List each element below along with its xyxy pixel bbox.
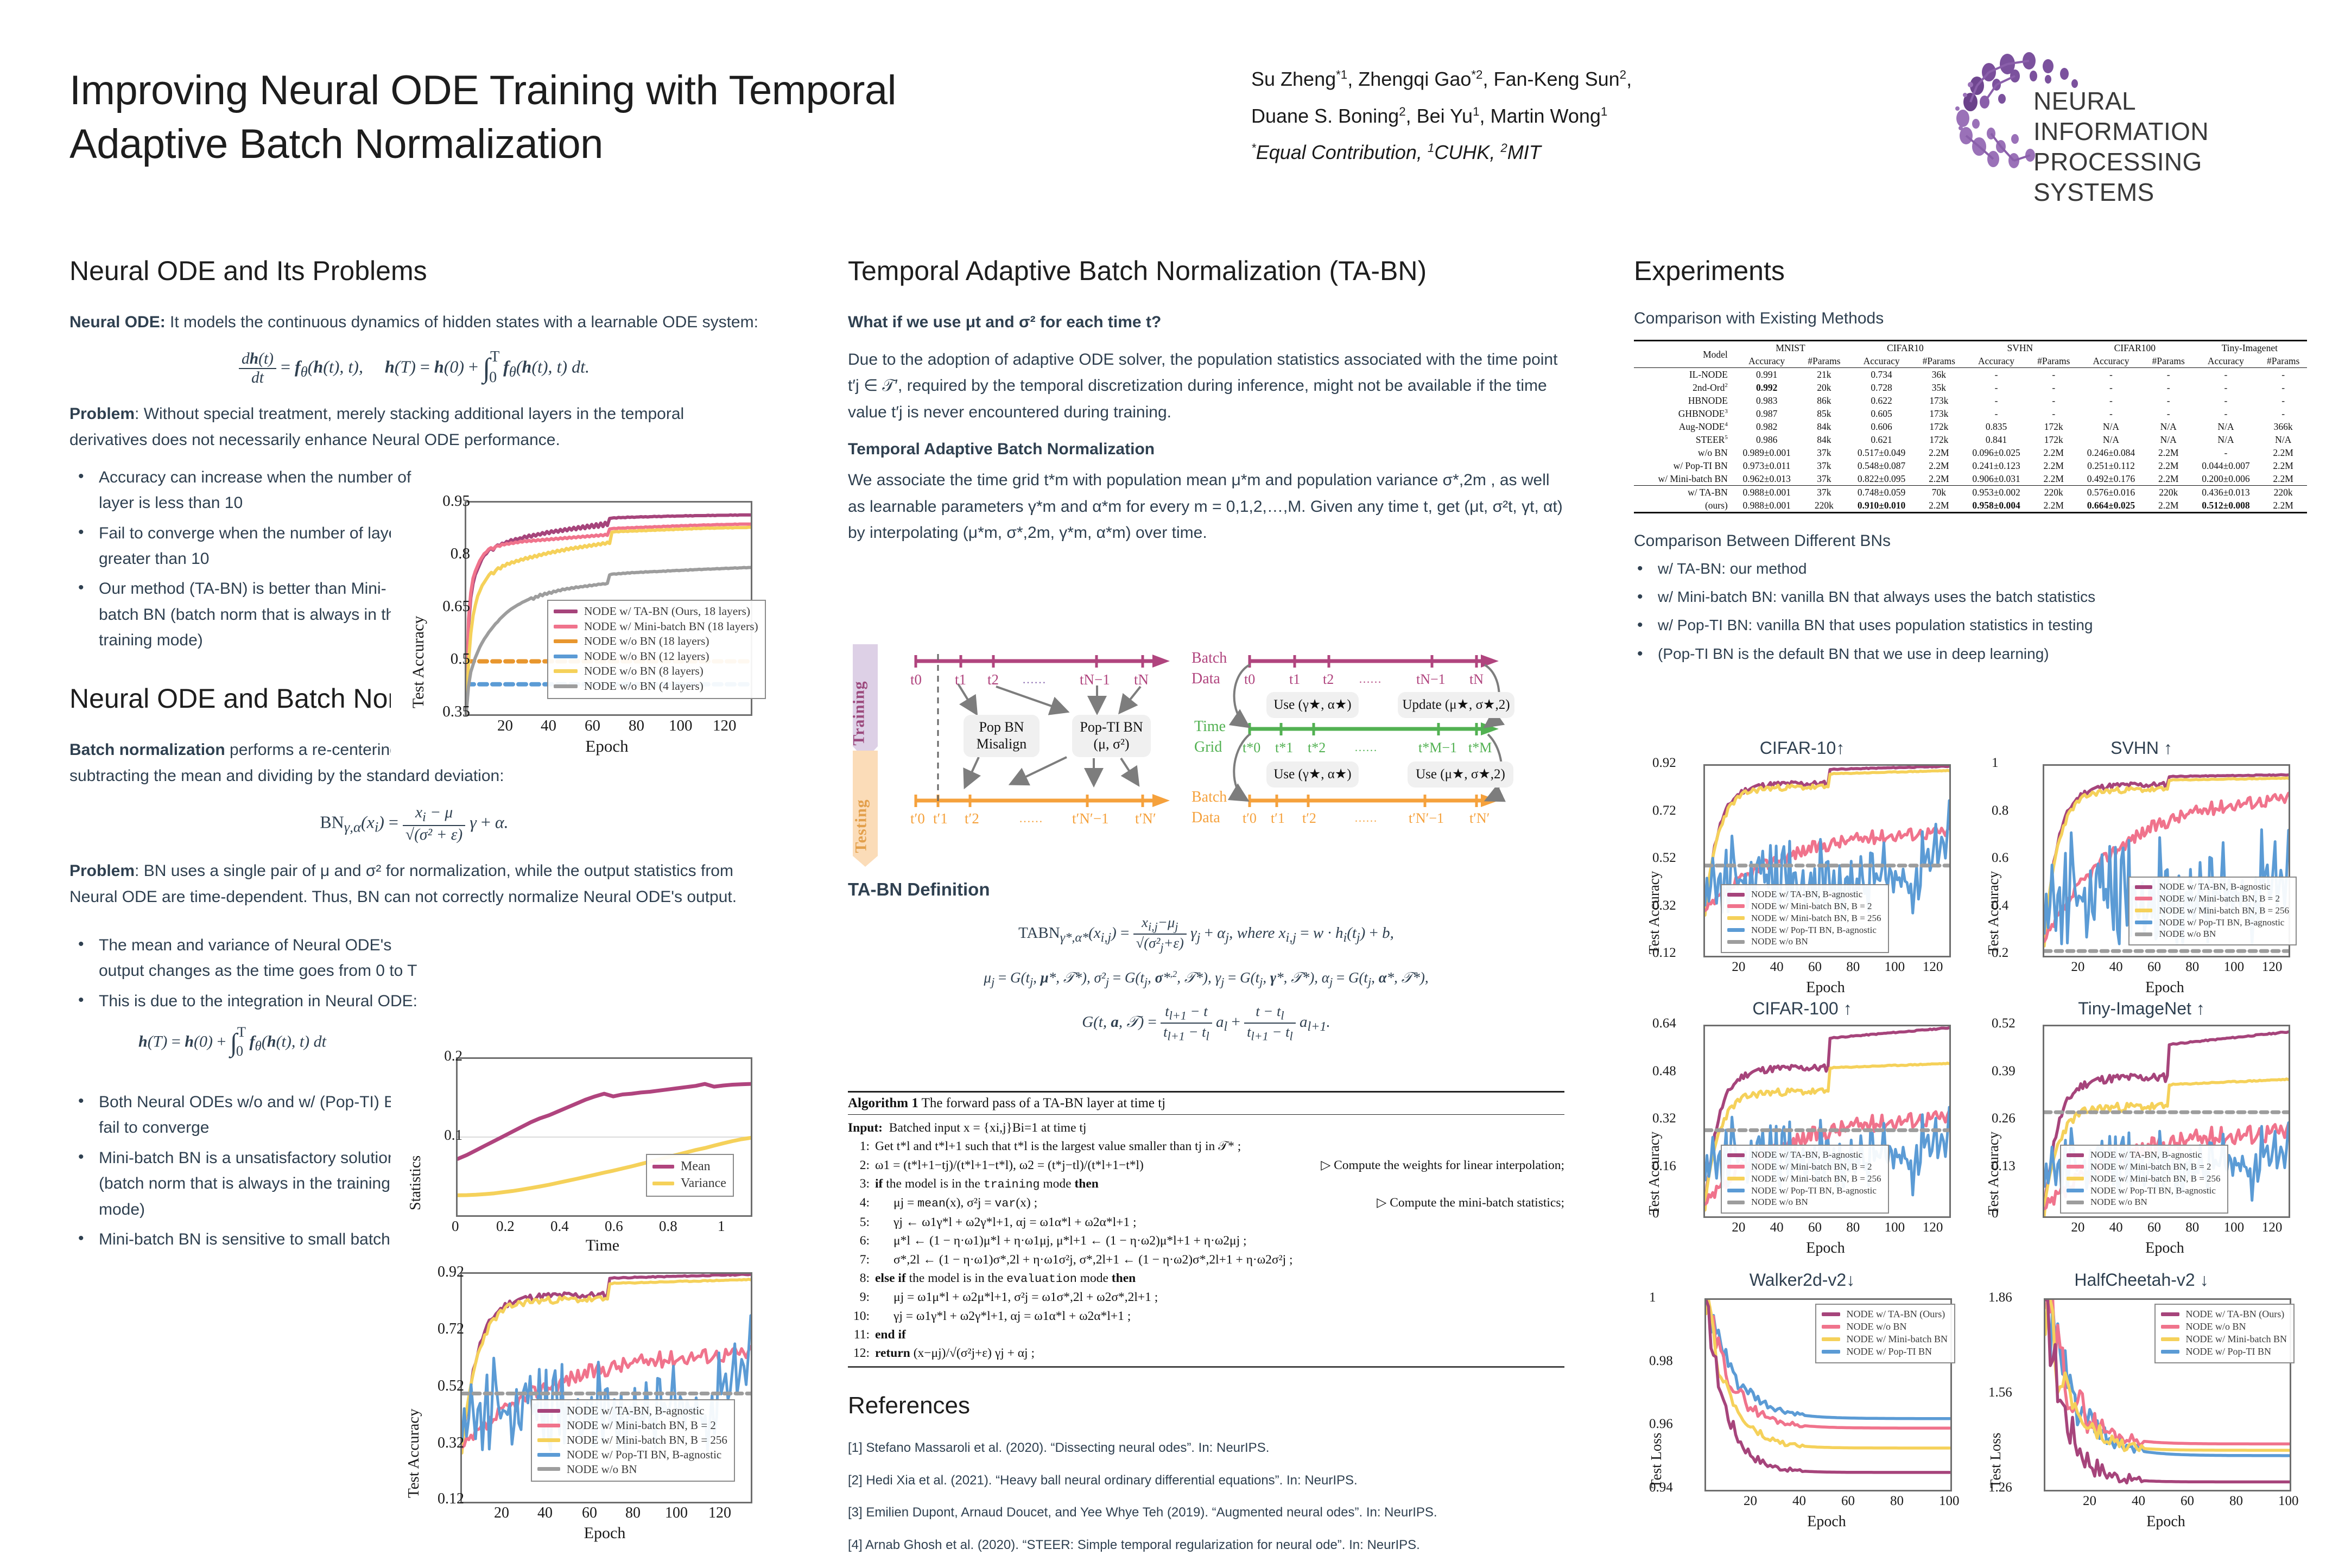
legend-item: Mean <box>652 1158 726 1175</box>
legend-label: NODE w/ Mini-batch BN, B = 256 <box>2159 905 2289 917</box>
legend-item: NODE w/ TA-BN (Ours, 18 layers) <box>554 604 758 619</box>
xtick: 20 <box>2083 1494 2096 1509</box>
algorithm-line: 10:γj = ω1γ*l + ω2γ*l+1, αj = ω1α*l + ω2… <box>848 1307 1564 1325</box>
table-cell-model: w/ Pop-TI BN <box>1634 459 1733 472</box>
section-neural-ode-problems: Neural ODE and Its Problems <box>69 255 759 287</box>
ytick: 0.65 <box>442 598 470 615</box>
table-cell: 172k <box>2030 433 2077 446</box>
table-cell: 20k <box>1801 381 1848 394</box>
table-cell: 2.2M <box>1915 472 1963 486</box>
legend-swatch <box>2161 1337 2179 1341</box>
table-cell: 172k <box>2030 420 2077 433</box>
list-item: Mini-batch BN is sensitive to small batc… <box>99 1227 424 1252</box>
ytick: 0.4 <box>1992 898 2008 913</box>
diagram-tick-label: t2 <box>1323 671 1334 688</box>
ytick: 1 <box>1992 756 1999 771</box>
ytick: 0.35 <box>442 703 470 721</box>
table-cell: 172k <box>1915 433 1963 446</box>
legend-label: NODE w/ Mini-batch BN, B = 2 <box>2090 1161 2211 1173</box>
algorithm-line: 9:μj = ω1μ*l + ω2μ*l+1, σ²j = ω1σ*,2l + … <box>848 1288 1564 1306</box>
diagram-tick-label: tN <box>1469 671 1484 688</box>
table-cell-model: IL-NODE <box>1634 368 1733 382</box>
legend-item: NODE w/ Pop-TI BN <box>2161 1345 2287 1358</box>
ytick: 0.92 <box>438 1264 464 1281</box>
diagram-tick-label: …… <box>1022 672 1046 687</box>
legend-label: NODE w/o BN <box>2090 1196 2147 1208</box>
legend-label: NODE w/ Mini-batch BN, B = 256 <box>1751 1173 1881 1185</box>
xtick: 20 <box>497 717 513 735</box>
tabn-diagram: Training Testing <box>850 643 1563 868</box>
table-cell: N/A <box>2192 433 2260 446</box>
legend-swatch <box>2067 1153 2084 1157</box>
xtick: 120 <box>1923 960 1943 975</box>
xtick: 100 <box>1885 960 1905 975</box>
legend-item: NODE w/ Mini-batch BN, B = 256 <box>2135 905 2289 917</box>
table-cell: 0.973±0.011 <box>1733 459 1801 472</box>
section-tabn: Temporal Adaptive Batch Normalization (T… <box>848 255 1564 287</box>
table-cell: 0.986 <box>1733 433 1801 446</box>
legend-item: NODE w/ Pop-TI BN, B-agnostic <box>537 1448 727 1462</box>
diagram-tick-label: t′N′ <box>1135 810 1156 827</box>
chart-cifar100-legend: NODE w/ TA-BN, B-agnosticNODE w/ Mini-ba… <box>1721 1145 1889 1214</box>
table-subheader: #Params <box>2259 354 2307 368</box>
ytick: 0.5 <box>451 650 470 668</box>
diagram-tick-label: t0 <box>910 671 922 688</box>
ytick: 0.8 <box>451 545 470 563</box>
table-subheader: #Params <box>2030 354 2077 368</box>
table-cell: 0.621 <box>1848 433 1915 446</box>
legend-swatch <box>1727 1177 1745 1180</box>
ytick: 0.96 <box>1649 1417 1673 1432</box>
table-cell: 2.2M <box>2259 446 2307 459</box>
ytick: 0.52 <box>438 1377 464 1395</box>
compare-title: Comparison Between Different BNs <box>1634 532 2312 550</box>
table-cell: 0.436±0.013 <box>2192 486 2260 499</box>
legend-label: NODE w/ Pop-TI BN, B-agnostic <box>2159 917 2284 929</box>
diagram-row-label: Time <box>1194 718 1226 735</box>
table-cell: 2.2M <box>2259 459 2307 472</box>
legend-item: NODE w/o BN <box>2135 928 2289 940</box>
table-cell: 37k <box>1801 446 1848 459</box>
legend-item: NODE w/o BN <box>2161 1321 2287 1333</box>
table-cell: 220k <box>2259 486 2307 499</box>
legend-swatch <box>1727 1201 1745 1204</box>
xtick: 0.4 <box>550 1218 569 1235</box>
diagram-tick-label: …… <box>1354 811 1377 825</box>
diagram-tick-label: t*M <box>1468 740 1492 756</box>
reference-item: [2] Hedi Xia et al. (2021). “Heavy ball … <box>848 1471 1564 1490</box>
xtick: 0.2 <box>496 1218 515 1235</box>
diagram-tick-label: t2 <box>987 671 999 688</box>
xtick: 20 <box>2071 1220 2084 1235</box>
table-cell: 2.2M <box>2030 446 2077 459</box>
table-cell: - <box>2077 407 2145 420</box>
table-cell-model: Aug-NODE4 <box>1634 420 1733 433</box>
table-cell: 2.2M <box>2145 472 2192 486</box>
xtick: 40 <box>1792 1494 1806 1509</box>
algorithm-line: 12:return (x−μj)/√(σ²j+ε) γj + αj ; <box>848 1344 1564 1362</box>
table-cell: 0.734 <box>1848 368 1915 382</box>
ytick: 0.95 <box>442 492 470 510</box>
legend-item: NODE w/ TA-BN, B-agnostic <box>2067 1149 2221 1161</box>
table-subheader-row: Accuracy#ParamsAccuracy#ParamsAccuracy#P… <box>1634 354 2307 368</box>
legend-swatch <box>554 610 578 613</box>
tabn-definition-title: TA-BN Definition <box>848 879 1564 900</box>
box-line-1: Pop BN <box>979 719 1024 736</box>
table-cell: 366k <box>2259 420 2307 433</box>
table-cell: 35k <box>1915 381 1963 394</box>
diagram-box-use-gamma-alpha-train: Use (γ★, α★) <box>1266 692 1359 718</box>
chart-statistics-legend: Mean Variance <box>646 1154 734 1197</box>
equation-integral: h(T) = h(0) + ∫T0 fθ(h(t), t) dt <box>69 1028 395 1058</box>
list-item: w/ Mini-batch BN: vanilla BN that always… <box>1658 585 2312 609</box>
logo-line-1: NEURAL INFORMATION <box>2033 86 2312 147</box>
ytick: 1.26 <box>1988 1480 2012 1495</box>
table-header-dataset: MNIST <box>1733 341 1848 355</box>
diagram-tick-label: t′1 <box>1271 810 1285 827</box>
reference-item: [1] Stefano Massaroli et al. (2020). “Di… <box>848 1439 1564 1457</box>
chart-batchsize-ylabel: Test Accuracy <box>405 1408 423 1498</box>
list-item: w/ TA-BN: our method <box>1658 557 2312 581</box>
legend-label: NODE w/ Mini-batch BN, B = 256 <box>2090 1173 2221 1185</box>
ytick: 0.32 <box>1652 1111 1676 1126</box>
authors-line-1: Su Zheng*1, Zhengqi Gao*2, Fan-Keng Sun2… <box>1251 61 1772 98</box>
legend-swatch <box>1727 1189 1745 1192</box>
legend-item: NODE w/o BN <box>2067 1196 2221 1208</box>
table-cell: 0.988±0.001 <box>1733 486 1801 499</box>
ytick: 0.12 <box>1652 945 1676 961</box>
legend-swatch <box>1727 1165 1745 1169</box>
xtick: 80 <box>1846 960 1860 975</box>
table-row: 2nd-Ord20.99220k0.72835k------ <box>1634 381 2307 394</box>
diagram-row-label: Data <box>1191 670 1220 688</box>
chart-cifar10: CIFAR-10↑Test Accuracy0.120.320.520.720.… <box>1639 738 1965 1010</box>
table-cell: 0.200±0.006 <box>2192 472 2260 486</box>
diagram-tick-label: t*0 <box>1243 740 1260 756</box>
xtick: 20 <box>2071 960 2084 975</box>
table-cell: - <box>2192 394 2260 407</box>
diagram-tick-label: t1 <box>955 671 966 688</box>
tabn-lead-text: Temporal Adaptive Batch Normalization <box>848 440 1155 458</box>
table-cell-model: (ours) <box>1634 499 1733 513</box>
table-cell: 37k <box>1801 486 1848 499</box>
tabn-lead: Temporal Adaptive Batch Normalization <box>848 436 1564 463</box>
bullets-conclusions: Both Neural ODEs w/o and w/ (Pop-TI) BN … <box>69 1089 424 1252</box>
table-header-dataset: CIFAR100 <box>2077 341 2192 355</box>
legend-label: NODE w/o BN <box>1751 936 1808 948</box>
diagram-tick-label: …… <box>1019 811 1043 826</box>
ytick: 0.72 <box>1652 803 1676 818</box>
table-cell: - <box>2259 381 2307 394</box>
table-cell: - <box>2192 381 2260 394</box>
legend-label: NODE w/o BN (4 layers) <box>584 679 703 694</box>
table-cell: N/A <box>2145 433 2192 446</box>
legend-item: NODE w/ Mini-batch BN (18 layers) <box>554 619 758 634</box>
legend-swatch <box>2135 885 2152 889</box>
algorithm-input-label: Input: <box>848 1121 883 1135</box>
chart-halfcheetah-title: HalfCheetah-v2 ↓ <box>1979 1270 2304 1290</box>
xtick: 80 <box>625 1504 641 1522</box>
algorithm-line: 4:μj = mean(x), σ²j = var(x) ;▷ Compute … <box>848 1194 1564 1213</box>
table-cell-model: 2nd-Ord2 <box>1634 381 1733 394</box>
logo-line-2: PROCESSING SYSTEMS <box>2033 147 2312 207</box>
diagram-tick-label: t′N′−1 <box>1409 810 1444 827</box>
results-table: ModelMNISTCIFAR10SVHNCIFAR100Tiny-Imagen… <box>1634 340 2307 513</box>
ytick: 1.86 <box>1988 1290 2012 1305</box>
tabn-body: We associate the time grid t*m with popu… <box>848 467 1564 547</box>
legend-item: NODE w/ Mini-batch BN, B = 2 <box>537 1418 727 1433</box>
xtick: 80 <box>1846 1220 1860 1235</box>
xtick: 100 <box>2224 1220 2245 1235</box>
xtick: 20 <box>1744 1494 1757 1509</box>
xtick: 60 <box>582 1504 597 1522</box>
legend-label: NODE w/ TA-BN, B-agnostic <box>1751 1149 1862 1161</box>
algorithm-line: 7:σ*,2l ← (1 − η·ω1)σ*,2l + η·ω1σ²j, σ*,… <box>848 1250 1564 1269</box>
table-cell: 2.2M <box>2259 499 2307 513</box>
legend-swatch <box>2067 1165 2084 1169</box>
xtick: 0.8 <box>659 1218 677 1235</box>
diagram-tick-label: t*M−1 <box>1418 740 1457 756</box>
ytick: 0.39 <box>1992 1064 2016 1079</box>
diagram-box-pop-bn: Pop BN Misalign <box>964 715 1040 757</box>
legend-item: NODE w/ Mini-batch BN, B = 2 <box>2067 1161 2221 1173</box>
section-experiments: Experiments <box>1634 255 2312 287</box>
legend-swatch <box>554 684 578 688</box>
bullets-compare: w/ TA-BN: our method w/ Mini-batch BN: v… <box>1634 557 2312 666</box>
xtick: 80 <box>2185 1220 2199 1235</box>
legend-swatch <box>2161 1325 2179 1329</box>
ytick: 0.32 <box>1652 898 1676 913</box>
table-cell: 0.988±0.001 <box>1733 499 1801 513</box>
chart-statistics-xlabel: Time <box>456 1236 749 1255</box>
table-cell: 2.2M <box>2030 472 2077 486</box>
legend-item: NODE w/ TA-BN, B-agnostic <box>1727 888 1881 900</box>
table-cell: 70k <box>1915 486 1963 499</box>
xtick: 120 <box>708 1504 731 1522</box>
legend-label: NODE w/ Mini-batch BN, B = 2 <box>2159 893 2280 905</box>
diagram-tick-label: …… <box>1359 672 1381 686</box>
ytick: 0.8 <box>1992 803 2008 818</box>
table-cell: 0.987 <box>1733 407 1801 420</box>
legend-label: NODE w/ Pop-TI BN <box>1847 1345 1932 1358</box>
table-cell: 2.2M <box>2145 446 2192 459</box>
table-cell: 0.835 <box>1963 420 2030 433</box>
xtick: 100 <box>1885 1220 1905 1235</box>
table-row: w/ Pop-TI BN0.973±0.01137k0.548±0.0872.2… <box>1634 459 2307 472</box>
table-cell: 0.983 <box>1733 394 1801 407</box>
table-cell: 2.2M <box>1915 446 1963 459</box>
diagram-box-use-gamma-alpha-test: Use (γ★, α★) <box>1266 761 1359 788</box>
reference-item: [3] Emilien Dupont, Arnaud Doucet, and Y… <box>848 1503 1564 1522</box>
xtick: 120 <box>2262 960 2283 975</box>
xtick: 60 <box>2147 960 2161 975</box>
table-cell: - <box>1963 394 2030 407</box>
table-cell: 0.096±0.025 <box>1963 446 2030 459</box>
table-cell: N/A <box>2192 420 2260 433</box>
question-lead: What if we use μt and σ² for each time t… <box>848 309 1564 336</box>
algorithm-box: Algorithm 1 The forward pass of a TA-BN … <box>848 1091 1564 1368</box>
diagram-tick-label: tN <box>1134 671 1149 688</box>
algorithm-input: Input: Batched input x = {xi,j}Bi=1 at t… <box>848 1119 1564 1137</box>
neurips-logo: NEURAL INFORMATION PROCESSING SYSTEMS <box>1932 42 2312 178</box>
legend-item: NODE w/ Mini-batch BN, B = 256 <box>1727 1173 1881 1185</box>
table-cell: 0.622 <box>1848 394 1915 407</box>
diagram-row-label: Grid <box>1194 739 1222 756</box>
legend-label: NODE w/ Mini-batch BN, B = 2 <box>1751 900 1872 912</box>
legend-swatch <box>1822 1350 1840 1354</box>
table-cell: 2.2M <box>2259 472 2307 486</box>
ytick: 0.48 <box>1652 1064 1676 1079</box>
xtick: 80 <box>2229 1494 2243 1509</box>
legend-label: NODE w/o BN <box>1751 1196 1808 1208</box>
xtick: 100 <box>665 1504 688 1522</box>
table-row: STEER50.98684k0.621172k0.841172kN/AN/AN/… <box>1634 433 2307 446</box>
chart-tinyimagenet: Tiny-ImageNet ↑Test Accuracy00.130.260.3… <box>1979 999 2304 1270</box>
table-cell: - <box>2145 368 2192 382</box>
legend-label: NODE w/o BN <box>2159 928 2216 940</box>
legend-label: NODE w/ TA-BN (Ours, 18 layers) <box>584 604 750 619</box>
xtick: 80 <box>629 717 644 735</box>
table-cell: - <box>2145 407 2192 420</box>
table-cell: 0.241±0.123 <box>1963 459 2030 472</box>
algorithm-line: 2:ω1 = (t*l+1−tj)/(t*l+1−t*l), ω2 = (t*j… <box>848 1156 1564 1175</box>
diagram-tick-label: t′N′−1 <box>1072 810 1109 827</box>
chart-tinyimagenet-title: Tiny-ImageNet ↑ <box>1979 999 2304 1019</box>
legend-item: NODE w/o BN <box>537 1462 727 1477</box>
legend-label: NODE w/ TA-BN, B-agnostic <box>567 1404 704 1418</box>
legend-item: NODE w/ Pop-TI BN, B-agnostic <box>1727 924 1881 936</box>
legend-swatch <box>1727 916 1745 920</box>
legend-label: NODE w/o BN <box>1847 1321 1907 1333</box>
table-header-dataset: Tiny-Imagenet <box>2192 341 2307 355</box>
table-subheader: #Params <box>2145 354 2192 368</box>
legend-item: NODE w/ Mini-batch BN, B = 2 <box>2135 893 2289 905</box>
table-cell: 37k <box>1801 472 1848 486</box>
xtick: 120 <box>713 717 737 735</box>
legend-label: NODE w/ Pop-TI BN, B-agnostic <box>1751 1185 1877 1197</box>
box-line-2: (μ, σ²) <box>1093 736 1129 753</box>
paragraph-problem-1: Problem: Without special treatment, mere… <box>69 401 759 454</box>
chart-layers-legend: NODE w/ TA-BN (Ours, 18 layers) NODE w/ … <box>547 600 766 699</box>
table-cell: 220k <box>1801 499 1848 513</box>
chart-cifar10-title: CIFAR-10↑ <box>1639 738 1965 758</box>
legend-item: NODE w/ Pop-TI BN, B-agnostic <box>2067 1185 2221 1197</box>
chart-svhn-title: SVHN ↑ <box>1979 738 2304 758</box>
legend-label: NODE w/ TA-BN (Ours) <box>1847 1308 1945 1321</box>
diagram-tick-label: tN−1 <box>1080 671 1110 688</box>
box-line-2: Misalign <box>977 736 1026 753</box>
xtick: 100 <box>2224 960 2245 975</box>
table-cell: - <box>2259 394 2307 407</box>
legend-label: NODE w/ TA-BN, B-agnostic <box>2159 881 2270 893</box>
legend-label: NODE w/ Mini-batch BN, B = 256 <box>567 1433 727 1448</box>
table-cell: N/A <box>2259 433 2307 446</box>
table-cell: 220k <box>2030 486 2077 499</box>
ytick: 0.52 <box>1652 850 1676 866</box>
table-cell: 0.958±0.004 <box>1963 499 2030 513</box>
table-cell: - <box>2192 446 2260 459</box>
ytick: 1.56 <box>1988 1385 2012 1400</box>
table-cell: 0.822±0.095 <box>1848 472 1915 486</box>
table-row: w/o BN0.989±0.00137k0.517±0.0492.2M0.096… <box>1634 446 2307 459</box>
legend-swatch <box>1822 1337 1840 1341</box>
table-cell: - <box>2145 394 2192 407</box>
xtick: 60 <box>1808 960 1822 975</box>
logo-text: NEURAL INFORMATION PROCESSING SYSTEMS <box>2033 86 2312 207</box>
table-cell: - <box>2192 368 2260 382</box>
page-title: Improving Neural ODE Training with Tempo… <box>69 64 1199 172</box>
xtick: 40 <box>2109 1220 2123 1235</box>
column-right: Experiments Comparison with Existing Met… <box>1634 255 2312 678</box>
table-cell: 0.492±0.176 <box>2077 472 2145 486</box>
legend-item: NODE w/ Mini-batch BN <box>1822 1333 1948 1345</box>
legend-label: NODE w/o BN (18 layers) <box>584 634 709 649</box>
xtick: 100 <box>1939 1494 1960 1509</box>
diagram-tick-label: t0 <box>1244 671 1255 688</box>
diagram-row-label: Batch <box>1191 650 1227 667</box>
ytick: 0.94 <box>1649 1480 1673 1495</box>
chart-cifar10-xlabel: Epoch <box>1703 979 1948 996</box>
table-cell: 85k <box>1801 407 1848 420</box>
algorithm-line: 5:γj ← ω1γ*l + ω2γ*l+1, αj = ω1α*l + ω2α… <box>848 1213 1564 1231</box>
ytick: 0.52 <box>1992 1016 2016 1031</box>
table-cell: 2.2M <box>2030 459 2077 472</box>
table-cell: - <box>2030 407 2077 420</box>
algorithm-caption: Algorithm 1 The forward pass of a TA-BN … <box>848 1091 1564 1115</box>
legend-item: Variance <box>652 1175 726 1192</box>
legend-item: NODE w/o BN <box>1727 936 1881 948</box>
table-cell: 86k <box>1801 394 1848 407</box>
table-cell: 0.962±0.013 <box>1733 472 1801 486</box>
table-cell: N/A <box>2145 420 2192 433</box>
diagram-tick-label: tN−1 <box>1416 671 1446 688</box>
legend-item: NODE w/ Mini-batch BN, B = 256 <box>537 1433 727 1448</box>
legend-swatch <box>554 639 578 643</box>
xtick: 60 <box>2147 1220 2161 1235</box>
ytick: 0.12 <box>438 1490 464 1508</box>
table-cell: 0.991 <box>1733 368 1801 382</box>
chart-cifar100: CIFAR-100 ↑Test Accuracy00.160.320.480.6… <box>1639 999 1965 1270</box>
legend-swatch <box>1727 904 1745 908</box>
xtick: 80 <box>1890 1494 1904 1509</box>
table-cell: - <box>2259 407 2307 420</box>
table-cell: N/A <box>2077 420 2145 433</box>
table-header-model: Model <box>1634 341 1733 368</box>
results-table-wrap: ModelMNISTCIFAR10SVHNCIFAR100Tiny-Imagen… <box>1634 340 2307 513</box>
algorithm-line: 6:μ*l ← (1 − η·ω1)μ*l + η·ω1μj, μ*l+1 ← … <box>848 1231 1564 1250</box>
legend-item: NODE w/ Pop-TI BN, B-agnostic <box>2135 917 2289 929</box>
legend-item: NODE w/ Mini-batch BN, B = 256 <box>1727 912 1881 924</box>
table-cell: 2.2M <box>2145 459 2192 472</box>
ytick: 0.26 <box>1992 1111 2016 1126</box>
diagram-row-label: Batch <box>1191 789 1227 806</box>
equation-tabn: TABNγ*,α*(xi,j) = xi,j−μj√(σ²j+ε) γj + α… <box>848 914 1564 955</box>
chart-layers: Test Accuracy 0.95 0.8 0.65 0.5 0.35 20 … <box>391 491 760 763</box>
ytick: 0.13 <box>1992 1159 2016 1174</box>
xtick: 60 <box>1841 1494 1855 1509</box>
table-subheader: Accuracy <box>2192 354 2260 368</box>
legend-label: NODE w/ TA-BN, B-agnostic <box>1751 888 1862 900</box>
table-cell: 0.910±0.010 <box>1848 499 1915 513</box>
chart-walker2d-xlabel: Epoch <box>1704 1513 1949 1531</box>
chart-walker2d-legend: NODE w/ TA-BN (Ours)NODE w/o BNNODE w/ M… <box>1815 1304 1955 1363</box>
legend-swatch <box>554 655 578 658</box>
algorithm-line: 3:if the model is in the training mode t… <box>848 1175 1564 1194</box>
column-middle: Temporal Adaptive Batch Normalization (T… <box>848 255 1564 557</box>
equation-ode: dh(t)dt = fθ(h(t), t), h(T) = h(0) + ∫T0… <box>69 350 759 387</box>
table-caption: Comparison with Existing Methods <box>1634 309 2312 328</box>
table-row: w/ Mini-batch BN0.962±0.01337k0.822±0.09… <box>1634 472 2307 486</box>
